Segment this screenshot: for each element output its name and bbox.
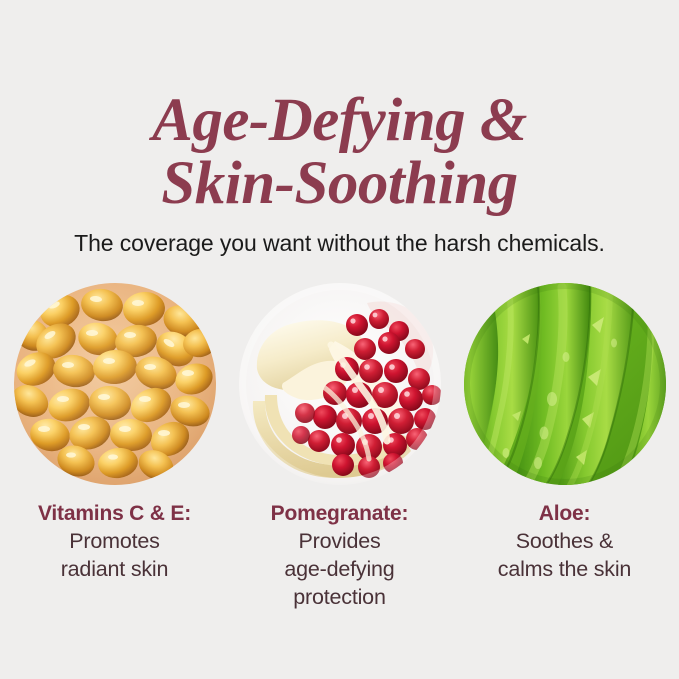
ingredient-description: Soothes & calms the skin xyxy=(463,527,666,583)
ingredient-description-line: calms the skin xyxy=(463,555,666,583)
ingredient-description-line: protection xyxy=(238,583,441,611)
ingredient-description-line: Provides xyxy=(238,527,441,555)
ingredient-columns: Vitamins C & E: Promotes radiant skin xyxy=(0,283,679,611)
ingredient-description-line: age-defying xyxy=(238,555,441,583)
ingredient-column-pomegranate: Pomegranate: Provides age-defying protec… xyxy=(238,283,441,611)
aloe-vera-leaves-photo xyxy=(464,283,666,485)
page-title-line-2: Skin-Soothing xyxy=(0,152,679,215)
ingredient-description-line: Promotes xyxy=(13,527,216,555)
ingredient-description: Promotes radiant skin xyxy=(13,527,216,583)
ingredient-description-line: radiant skin xyxy=(13,555,216,583)
ingredient-label: Vitamins C & E: xyxy=(13,500,216,527)
ingredient-benefits-poster: Age-Defying & Skin-Soothing The coverage… xyxy=(0,0,679,679)
pomegranate-photo xyxy=(239,283,441,485)
ingredient-description: Provides age-defying protection xyxy=(238,527,441,611)
page-title: Age-Defying & Skin-Soothing xyxy=(0,89,679,215)
ingredient-caption: Aloe: Soothes & calms the skin xyxy=(463,500,666,583)
page-title-line-1: Age-Defying & xyxy=(0,89,679,152)
page-subtitle: The coverage you want without the harsh … xyxy=(0,228,679,258)
ingredient-description-line: Soothes & xyxy=(463,527,666,555)
ingredient-label: Pomegranate: xyxy=(238,500,441,527)
ingredient-column-vitamins: Vitamins C & E: Promotes radiant skin xyxy=(13,283,216,583)
ingredient-label: Aloe: xyxy=(463,500,666,527)
vitamin-softgel-capsules-photo xyxy=(14,283,216,485)
ingredient-caption: Pomegranate: Provides age-defying protec… xyxy=(238,500,441,611)
ingredient-column-aloe: Aloe: Soothes & calms the skin xyxy=(463,283,666,583)
ingredient-caption: Vitamins C & E: Promotes radiant skin xyxy=(13,500,216,583)
